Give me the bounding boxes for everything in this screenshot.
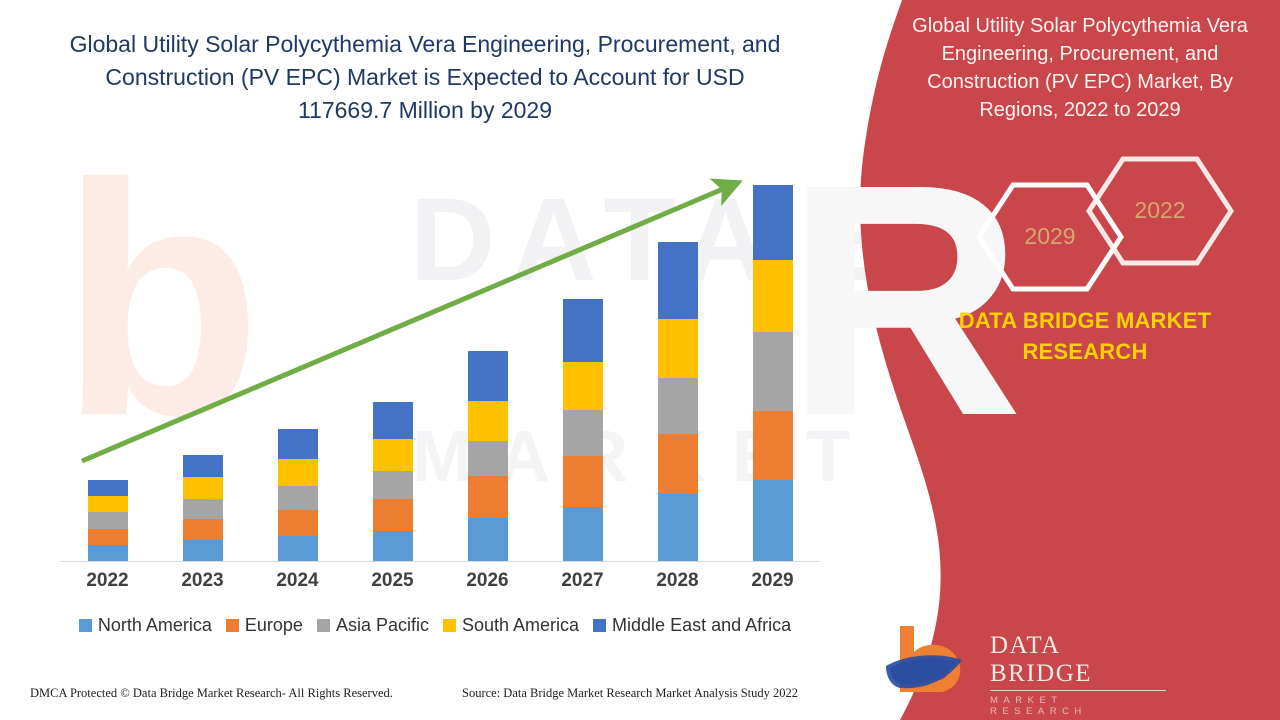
bar-2024 bbox=[278, 429, 318, 561]
bar-segment bbox=[278, 459, 318, 486]
bar-2022 bbox=[88, 480, 128, 561]
bar-2028 bbox=[658, 242, 698, 561]
bar-segment bbox=[88, 529, 128, 545]
bar-2023 bbox=[183, 455, 223, 561]
x-axis-labels: 20222023202420252026202720282029 bbox=[40, 570, 830, 598]
legend-item-1[interactable]: Europe bbox=[226, 615, 303, 636]
bar-segment bbox=[183, 499, 223, 518]
legend-swatch-icon bbox=[79, 619, 92, 632]
bar-segment bbox=[373, 499, 413, 530]
page-title: Global Utility Solar Polycythemia Vera E… bbox=[60, 28, 790, 127]
bar-segment bbox=[183, 455, 223, 477]
legend-label: North America bbox=[98, 615, 212, 636]
x-axis-label-2029: 2029 bbox=[733, 570, 813, 592]
x-axis-label-2028: 2028 bbox=[638, 570, 718, 592]
logo-text: DATA BRIDGE MARKET RESEARCH bbox=[990, 632, 1166, 717]
bar-segment bbox=[468, 351, 508, 402]
x-axis-label-2027: 2027 bbox=[543, 570, 623, 592]
brand-name-line1: DATA BRIDGE MARKET bbox=[940, 305, 1230, 336]
hexagon-2029-label: 2029 bbox=[975, 223, 1125, 250]
legend-label: Middle East and Africa bbox=[612, 615, 791, 636]
hexagon-badges: 2022 2029 bbox=[975, 155, 1235, 285]
chart-legend: North AmericaEuropeAsia PacificSouth Ame… bbox=[40, 615, 830, 636]
legend-label: Asia Pacific bbox=[336, 615, 429, 636]
x-axis-label-2022: 2022 bbox=[68, 570, 148, 592]
brand-panel: R Global Utility Solar Polycythemia Vera… bbox=[820, 0, 1280, 720]
bar-segment bbox=[278, 429, 318, 459]
bar-segment bbox=[563, 410, 603, 455]
bar-segment bbox=[88, 512, 128, 528]
x-axis-line bbox=[60, 561, 820, 562]
legend-swatch-icon bbox=[226, 619, 239, 632]
company-logo: DATA BRIDGE MARKET RESEARCH bbox=[878, 622, 1128, 700]
x-axis-label-2024: 2024 bbox=[258, 570, 338, 592]
bar-segment bbox=[278, 536, 318, 561]
footer-source-note: Source: Data Bridge Market Research Mark… bbox=[462, 686, 798, 701]
legend-item-0[interactable]: North America bbox=[79, 615, 212, 636]
bar-segment bbox=[278, 510, 318, 535]
bar-segment bbox=[658, 378, 698, 434]
bar-segment bbox=[468, 518, 508, 561]
brand-name: DATA BRIDGE MARKET RESEARCH bbox=[940, 305, 1230, 367]
bar-segment bbox=[468, 401, 508, 440]
bar-segment bbox=[278, 486, 318, 510]
legend-item-3[interactable]: South America bbox=[443, 615, 579, 636]
bar-segment bbox=[88, 545, 128, 561]
bar-segment bbox=[658, 319, 698, 378]
panel-title: Global Utility Solar Polycythemia Vera E… bbox=[900, 12, 1260, 124]
brand-name-line2: RESEARCH bbox=[940, 336, 1230, 367]
logo-mark-icon bbox=[878, 622, 983, 698]
bar-segment bbox=[753, 480, 793, 561]
bar-2026 bbox=[468, 351, 508, 561]
bar-segment bbox=[563, 362, 603, 411]
legend-item-2[interactable]: Asia Pacific bbox=[317, 615, 429, 636]
bar-segment bbox=[373, 471, 413, 499]
bar-segment bbox=[373, 531, 413, 561]
bar-segment bbox=[183, 477, 223, 499]
legend-swatch-icon bbox=[593, 619, 606, 632]
x-axis-label-2025: 2025 bbox=[353, 570, 433, 592]
bar-segment bbox=[183, 540, 223, 561]
bar-segment bbox=[658, 242, 698, 320]
bar-segment bbox=[88, 496, 128, 512]
bar-segment bbox=[468, 441, 508, 476]
bar-segment bbox=[468, 476, 508, 517]
bar-segment bbox=[563, 299, 603, 362]
logo-title: DATA BRIDGE bbox=[990, 632, 1166, 688]
bar-2027 bbox=[563, 299, 603, 561]
legend-swatch-icon bbox=[443, 619, 456, 632]
bar-segment bbox=[563, 456, 603, 508]
bar-segment bbox=[183, 519, 223, 540]
bar-segment bbox=[658, 434, 698, 495]
bar-segment bbox=[563, 507, 603, 561]
legend-item-4[interactable]: Middle East and Africa bbox=[593, 615, 791, 636]
footer-dmca-notice: DMCA Protected © Data Bridge Market Rese… bbox=[30, 686, 393, 701]
logo-subtitle: MARKET RESEARCH bbox=[990, 695, 1166, 717]
bar-segment bbox=[658, 494, 698, 561]
legend-swatch-icon bbox=[317, 619, 330, 632]
bar-2025 bbox=[373, 402, 413, 561]
legend-label: South America bbox=[462, 615, 579, 636]
bar-segment bbox=[373, 439, 413, 471]
infographic-canvas: b DATA BRIDGE MARKET RESEARCH Global Uti… bbox=[0, 0, 1280, 720]
bar-segment bbox=[88, 480, 128, 496]
bar-segment bbox=[373, 402, 413, 438]
logo-divider bbox=[990, 690, 1166, 691]
legend-label: Europe bbox=[245, 615, 303, 636]
x-axis-label-2023: 2023 bbox=[163, 570, 243, 592]
x-axis-label-2026: 2026 bbox=[448, 570, 528, 592]
stacked-bar-chart bbox=[40, 170, 830, 562]
